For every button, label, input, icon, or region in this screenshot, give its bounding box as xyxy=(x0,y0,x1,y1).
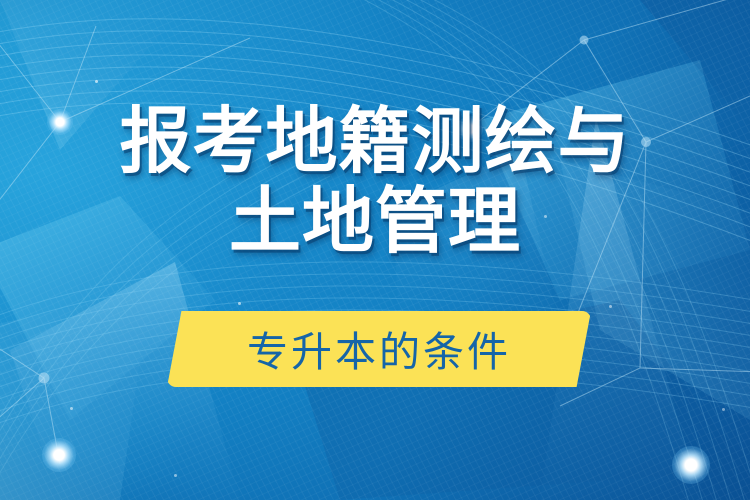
title-line-2: 土地管理 xyxy=(0,184,750,258)
title-line-1: 报考地籍测绘与 xyxy=(0,104,750,178)
subtitle-text: 专升本的条件 xyxy=(167,311,591,387)
promo-banner: 报考地籍测绘与 土地管理 专升本的条件 xyxy=(0,0,750,500)
subtitle-badge: 专升本的条件 xyxy=(167,311,591,387)
banner-content: 报考地籍测绘与 土地管理 专升本的条件 xyxy=(0,0,750,500)
banner-title: 报考地籍测绘与 土地管理 xyxy=(0,104,750,258)
